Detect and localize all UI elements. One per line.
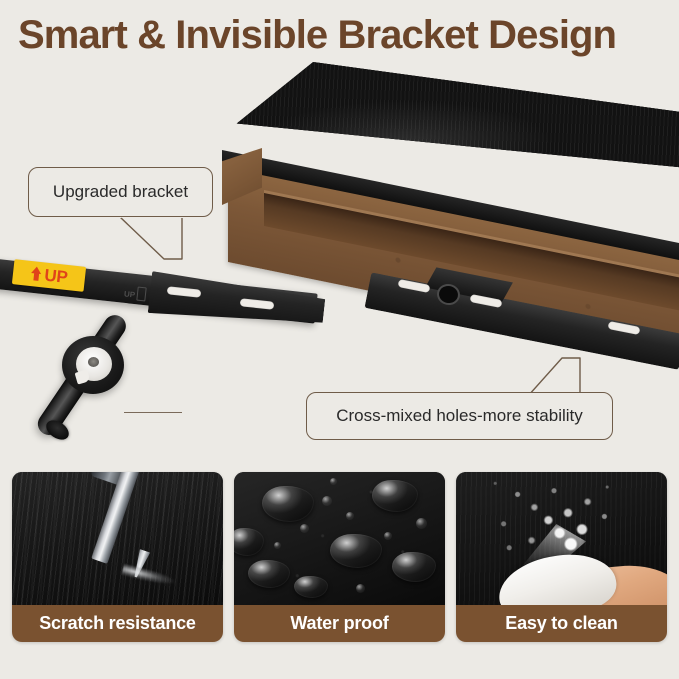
scratch-resistance-image xyxy=(12,472,223,605)
water-micro-droplet xyxy=(330,478,337,485)
water-droplet-icon xyxy=(330,534,382,568)
feature-caption-easy-to-clean: Easy to clean xyxy=(456,605,667,642)
water-droplet-icon xyxy=(372,480,418,512)
water-droplet-icon xyxy=(262,486,314,522)
up-sticker-label: UP xyxy=(44,267,69,286)
callout-cross-mixed-holes: Cross-mixed holes-more stability xyxy=(306,392,613,440)
callout-upgraded-bracket: Upgraded bracket xyxy=(28,167,213,217)
water-micro-droplet xyxy=(274,542,281,549)
up-arrow-icon xyxy=(30,266,44,282)
water-droplet-icon xyxy=(392,552,436,582)
water-proof-image xyxy=(234,472,445,605)
water-micro-droplet xyxy=(300,524,309,533)
water-micro-droplet xyxy=(356,584,365,593)
callout-cross-mixed-holes-label: Cross-mixed holes-more stability xyxy=(336,406,583,426)
up-emboss-box-icon xyxy=(136,287,146,302)
easy-to-clean-image xyxy=(456,472,667,605)
feature-card-scratch-resistance: Scratch resistance xyxy=(12,472,223,642)
product-infographic: Smart & Invisible Bracket Design UP xyxy=(0,0,679,679)
water-micro-droplet xyxy=(322,496,332,506)
washer-leader-line xyxy=(124,412,182,413)
feature-caption-scratch-resistance: Scratch resistance xyxy=(12,605,223,642)
feature-panels: Scratch resistance W xyxy=(0,472,679,650)
water-micro-droplet xyxy=(346,512,354,520)
page-title: Smart & Invisible Bracket Design xyxy=(18,13,678,58)
water-micro-droplet xyxy=(416,518,427,529)
water-droplet-icon xyxy=(294,576,328,598)
feature-card-easy-to-clean: Easy to clean xyxy=(456,472,667,642)
feature-card-water-proof: Water proof xyxy=(234,472,445,642)
water-droplet-icon xyxy=(248,560,290,588)
callout-upgraded-bracket-label: Upgraded bracket xyxy=(53,182,188,202)
feature-caption-water-proof: Water proof xyxy=(234,605,445,642)
rubber-washer-part xyxy=(62,336,124,394)
up-emboss-label: UP xyxy=(124,289,136,299)
washer-center-hole xyxy=(88,357,99,367)
water-micro-droplet xyxy=(384,532,392,540)
